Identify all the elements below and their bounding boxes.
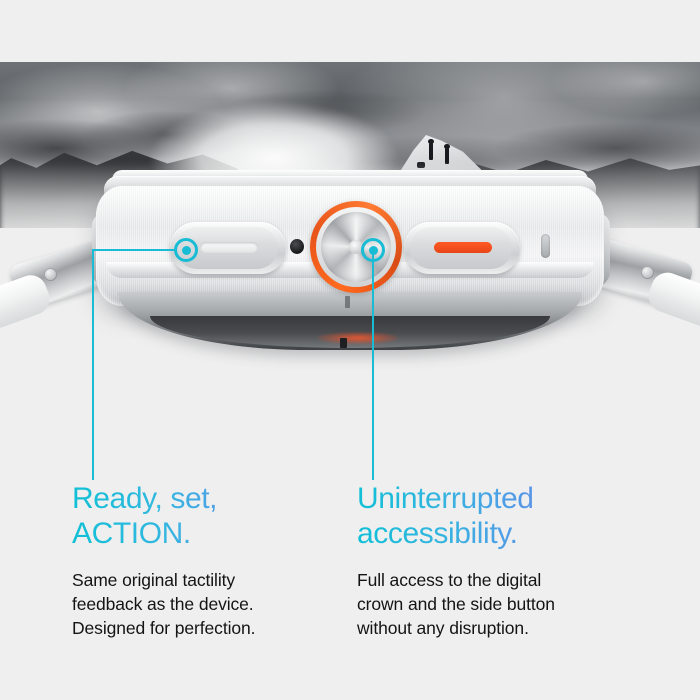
band-right-stud <box>641 266 654 279</box>
marketing-page: Ready, set, ACTION. Same original tactil… <box>0 0 700 700</box>
callout-leader-vertical-right <box>372 250 374 480</box>
speaker-slot <box>541 234 550 258</box>
body-action: Same original tactility feedback as the … <box>72 568 337 640</box>
callout-dot-digital-crown[interactable] <box>361 238 385 262</box>
callout-leader-horizontal-left <box>92 249 176 251</box>
case-pin <box>345 296 350 308</box>
headline-action: Ready, set, ACTION. <box>72 482 337 552</box>
action-button-slot <box>200 242 258 253</box>
body-accessibility: Full access to the digital crown and the… <box>357 568 647 640</box>
callout-text-left: Ready, set, ACTION. Same original tactil… <box>72 482 337 640</box>
band-left-stud <box>44 268 57 281</box>
headline-accessibility: Uninterrupted accessibility. <box>357 482 647 552</box>
callout-leader-vertical-left <box>92 249 94 480</box>
microphone-hole <box>290 239 304 254</box>
heart-rate-sensor-glow <box>318 332 398 344</box>
side-button-accent <box>434 242 492 253</box>
callout-text-right: Uninterrupted accessibility. Full access… <box>357 482 647 640</box>
callout-dot-action-button[interactable] <box>174 238 198 262</box>
sensor-pin <box>340 338 347 348</box>
